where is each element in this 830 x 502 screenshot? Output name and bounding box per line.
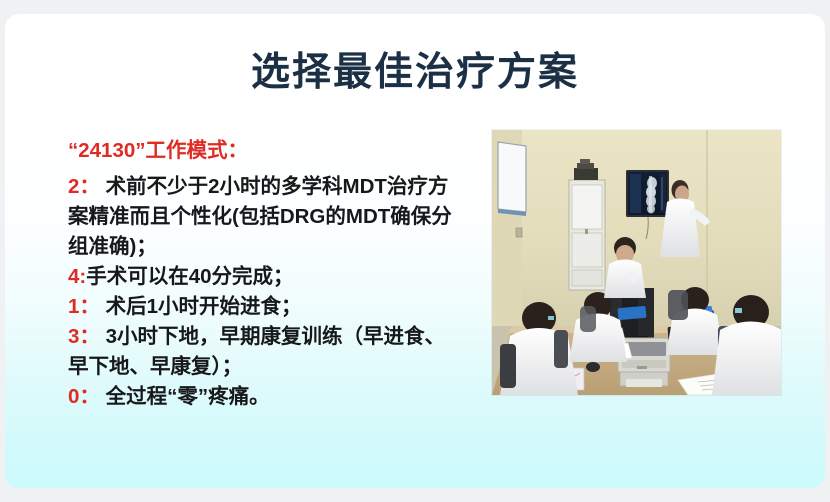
list-item-line: 案精准而且个性化(包括DRG的MDT确保分 bbox=[68, 202, 483, 232]
list-item-line: 0： 全过程“零”疼痛。 bbox=[68, 382, 483, 412]
page-title: 选择最佳治疗方案 bbox=[5, 50, 825, 96]
list-item-number: 2： bbox=[68, 175, 100, 198]
list-item-number: 3： bbox=[68, 325, 100, 348]
list-item-line: 组准确)； bbox=[68, 232, 483, 262]
list-item: 0： 全过程“零”疼痛。 bbox=[68, 382, 483, 412]
list-item-text: 全过程“零”疼痛。 bbox=[106, 385, 270, 408]
list-item-line: 2： 术前不少于2小时的多学科MDT治疗方 bbox=[68, 172, 483, 202]
mdt-meeting-photo bbox=[492, 130, 781, 395]
list-item-line: 1： 术后1小时开始进食； bbox=[68, 292, 483, 322]
list-item-text: 术后1小时开始进食； bbox=[106, 295, 302, 318]
photo-artwork bbox=[492, 130, 781, 395]
list-item-text: 手术可以在40分完成； bbox=[86, 265, 293, 288]
list-item: 2： 术前不少于2小时的多学科MDT治疗方 案精准而且个性化(包括DRG的MDT… bbox=[68, 172, 483, 262]
body-text-column: “24130”工作模式： 2： 术前不少于2小时的多学科MDT治疗方 案精准而且… bbox=[68, 136, 483, 412]
list-item-line: 4:手术可以在40分完成； bbox=[68, 262, 483, 292]
list-item-text: 3小时下地，早期康复训练（早进食、 bbox=[106, 325, 445, 348]
list-item-line: 3： 3小时下地，早期康复训练（早进食、 bbox=[68, 322, 483, 352]
list-item-number: 0： bbox=[68, 385, 100, 408]
list-item-number: 4: bbox=[68, 265, 86, 288]
list-item-text: 案精准而且个性化(包括DRG的MDT确保分 bbox=[68, 205, 452, 228]
list-item-number: 1： bbox=[68, 295, 100, 318]
list-item-line: 早下地、早康复）； bbox=[68, 352, 483, 382]
list-item: 3： 3小时下地，早期康复训练（早进食、 早下地、早康复）； bbox=[68, 322, 483, 382]
list-item-text: 术前不少于2小时的多学科MDT治疗方 bbox=[106, 175, 449, 198]
list-item: 1： 术后1小时开始进食； bbox=[68, 292, 483, 322]
mode-heading: “24130”工作模式： bbox=[68, 136, 483, 166]
slide-canvas: 选择最佳治疗方案 “24130”工作模式： 2： 术前不少于2小时的多学科MDT… bbox=[5, 14, 825, 488]
list-item-text: 早下地、早康复）； bbox=[68, 355, 242, 378]
list-item: 4:手术可以在40分完成； bbox=[68, 262, 483, 292]
list-item-text: 组准确)； bbox=[68, 235, 157, 258]
